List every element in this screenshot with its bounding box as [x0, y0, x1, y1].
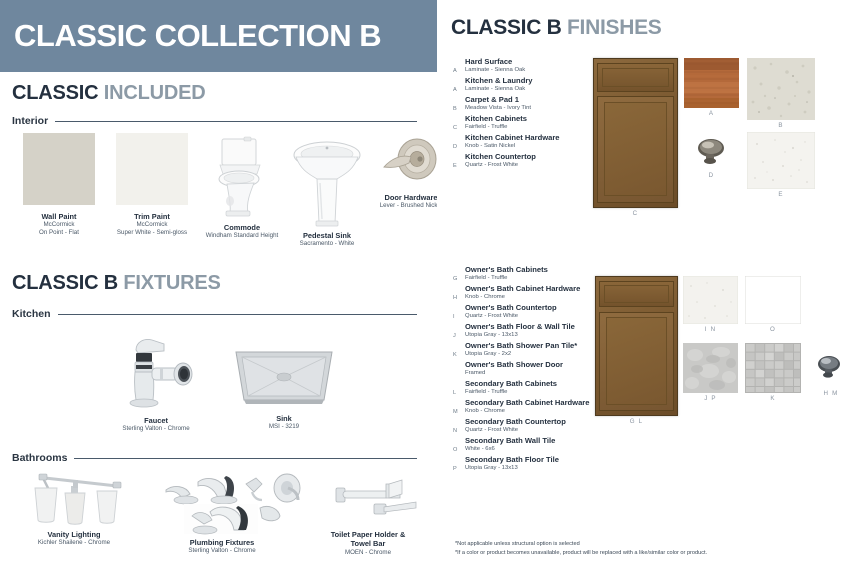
finish-name: Kitchen Cabinet Hardware	[465, 134, 560, 143]
item-desc: McCormickSuper White - Semi-gloss	[117, 221, 187, 237]
finish-name: Owner's Bath Floor & Wall Tile	[465, 323, 590, 332]
pedestal-sink-icon	[289, 139, 365, 227]
finish-row: M Secondary Bath Cabinet Hardware Knob -…	[453, 399, 590, 415]
finish-desc: Quartz - Frost White	[465, 313, 590, 320]
footnote-2: *If a color or product becomes unavailab…	[455, 549, 845, 558]
finish-name: Hard Surface	[465, 58, 560, 67]
finish-name: Owner's Bath Cabinets	[465, 266, 590, 275]
knob-satin-nickel-icon	[684, 132, 739, 170]
item-name: Faucet	[144, 416, 168, 425]
swatch-bath-knob: H M	[809, 348, 853, 397]
item-name: Vanity Lighting	[48, 530, 101, 539]
finish-desc: Knob - Chrome	[465, 408, 590, 415]
finish-row: O Secondary Bath Wall Tile White - 6x6	[453, 437, 590, 453]
item-name: Sink	[276, 414, 292, 423]
finish-row: I Owner's Bath Countertop Quartz - Frost…	[453, 304, 590, 320]
kitchen-sink-icon	[232, 346, 336, 408]
finish-desc: Fairfield - Truffle	[465, 389, 590, 396]
finish-desc: Utopia Gray - 2x2	[465, 351, 590, 358]
finish-row: K Owner's Bath Shower Pan Tile* Utopia G…	[453, 342, 590, 358]
finishes-heading: CLASSIC B FINISHES	[451, 16, 661, 40]
finish-name: Carpet & Pad 1	[465, 96, 560, 105]
finish-letter: G	[453, 276, 457, 282]
finish-letter: D	[453, 144, 457, 150]
finishes-top-list: A Hard Surface Laminate - Sienna Oak A K…	[453, 58, 560, 172]
finish-letter: H	[453, 295, 457, 301]
paint-swatch-icon	[116, 133, 188, 205]
divider-rule	[58, 314, 417, 315]
swatch-label: B	[747, 122, 815, 129]
finish-name: Kitchen & Laundry	[465, 77, 560, 86]
item-name: Door Hardware	[385, 193, 438, 202]
finish-row: D Kitchen Cabinet Hardware Knob - Satin …	[453, 134, 560, 150]
item-name: Commode	[224, 223, 260, 232]
heading-dark-part: CLASSIC	[12, 82, 98, 104]
finish-letter: N	[453, 428, 457, 434]
finish-letter: B	[453, 106, 457, 112]
finish-desc: Knob - Satin Nickel	[465, 143, 560, 150]
item-plumbing-fixtures: Plumbing Fixtures Sterling Valton - Chro…	[138, 472, 306, 555]
swatch-label: A	[684, 110, 739, 117]
item-commode: Commode Windham Standard Height	[200, 133, 284, 240]
finish-letter: O	[453, 447, 457, 453]
swatch-label: I N	[683, 326, 738, 333]
swatch-label: G L	[595, 418, 678, 425]
heading-dark-part: CLASSIC B	[12, 272, 118, 294]
subhead-label: Bathrooms	[12, 452, 74, 464]
finish-name: Owner's Bath Shower Door	[465, 361, 590, 370]
finish-desc: Knob - Chrome	[465, 294, 590, 301]
finish-name: Secondary Bath Wall Tile	[465, 437, 590, 446]
item-desc: Lever - Brushed Nickel	[380, 202, 443, 210]
finish-row: E Kitchen Countertop Quartz - Frost Whit…	[453, 153, 560, 169]
left-column: CLASSIC COLLECTION B CLASSIC INCLUDED In…	[0, 0, 437, 569]
item-desc: MSI - 3219	[269, 423, 299, 431]
item-name: Plumbing Fixtures	[190, 538, 254, 547]
finish-row: B Carpet & Pad 1 Meadow Vista - Ivory Ti…	[453, 96, 560, 112]
finish-letter: J	[453, 333, 456, 339]
finish-letter: A	[453, 87, 457, 93]
finish-row: P Secondary Bath Floor Tile Utopia Gray …	[453, 456, 590, 472]
finish-letter: A	[453, 68, 457, 74]
swatch-hard-surface: A	[684, 58, 739, 117]
mosaic-tile-icon	[745, 343, 801, 393]
swatch-shower-pan-tile: K	[745, 343, 801, 402]
swatch-bath-floor-tile: J P	[683, 343, 738, 402]
item-wall-paint: Wall Paint McCormickOn Point - Flat	[14, 133, 104, 237]
knob-chrome-icon	[809, 348, 853, 388]
door-drawer-panel	[597, 63, 673, 91]
swatch-label: D	[684, 172, 739, 179]
finish-row: Owner's Bath Shower Door Framed	[453, 361, 590, 377]
finish-name: Owner's Bath Shower Pan Tile*	[465, 342, 590, 351]
finish-letter: L	[453, 390, 456, 396]
finish-name: Secondary Bath Cabinets	[465, 380, 590, 389]
gray-tile-icon	[683, 343, 738, 393]
plumbing-fixtures-icon	[142, 472, 302, 536]
page-title: CLASSIC COLLECTION B	[0, 18, 381, 54]
wood-laminate-icon	[684, 58, 739, 108]
white-tile-icon	[745, 276, 801, 324]
collection-sheet: CLASSIC COLLECTION B CLASSIC INCLUDED In…	[0, 0, 853, 569]
finish-desc: Quartz - Frost White	[465, 427, 590, 434]
finish-name: Owner's Bath Cabinet Hardware	[465, 285, 590, 294]
finish-letter: I	[453, 314, 455, 320]
finish-letter: E	[453, 163, 457, 169]
item-desc: Sterling Valton - Chrome	[188, 547, 255, 555]
swatch-bath-wall-tile: O	[745, 276, 801, 333]
finish-row: L Secondary Bath Cabinets Fairfield - Tr…	[453, 380, 590, 396]
item-desc: McCormickOn Point - Flat	[39, 221, 79, 237]
kitchen-items: Faucet Sterling Valton - Chrome Sink MSI…	[92, 334, 348, 433]
quartz-icon	[747, 132, 815, 189]
item-name: Toilet Paper Holder &Towel Bar	[331, 530, 406, 549]
towel-bar-icon	[316, 476, 420, 526]
toilet-icon	[206, 135, 278, 219]
subhead-label: Interior	[12, 115, 55, 127]
swatch-bath-countertop: I N	[683, 276, 738, 333]
item-name: Pedestal Sink	[303, 231, 351, 240]
heading-dark-part: CLASSIC B	[451, 16, 561, 39]
swatch-kitchen-knob: D	[684, 132, 739, 179]
item-towel-bar: Toilet Paper Holder &Towel Bar MOEN - Ch…	[306, 472, 430, 556]
door-drawer-panel	[599, 281, 674, 307]
kitchen-faucet-icon	[114, 334, 198, 410]
finish-name: Owner's Bath Countertop	[465, 304, 590, 313]
finish-desc: Fairfield - Truffle	[465, 275, 590, 282]
finish-desc: Fairfield - Truffle	[465, 124, 560, 131]
swatch-label: J P	[683, 395, 738, 402]
footnote-1: *Not applicable unless structural option…	[455, 540, 845, 549]
finish-name: Secondary Bath Countertop	[465, 418, 590, 427]
header-bar: CLASSIC COLLECTION B	[0, 0, 437, 72]
finish-name: Kitchen Cabinets	[465, 115, 560, 124]
swatch-bath-cabinet-door: G L	[595, 276, 678, 425]
footnotes: *Not applicable unless structural option…	[455, 540, 845, 557]
paint-swatch-icon	[23, 133, 95, 205]
item-trim-paint: Trim Paint McCormickSuper White - Semi-g…	[104, 133, 200, 237]
door-main-panel	[597, 96, 673, 203]
cabinet-door-icon	[593, 58, 678, 208]
heading-light-part: FINISHES	[567, 16, 661, 39]
item-pedestal-sink: Pedestal Sink Sacramento - White	[284, 133, 370, 248]
subhead-bathrooms: Bathrooms	[12, 452, 417, 464]
finish-row: G Owner's Bath Cabinets Fairfield - Truf…	[453, 266, 590, 282]
swatch-label: O	[745, 326, 801, 333]
item-kitchen-faucet: Faucet Sterling Valton - Chrome	[92, 334, 220, 433]
finish-letter: M	[453, 409, 458, 415]
swatch-label: H M	[809, 390, 853, 397]
swatch-kitchen-cabinet-door: C	[593, 58, 678, 217]
item-desc: Windham Standard Height	[206, 232, 279, 240]
finish-desc: Utopia Gray - 13x13	[465, 332, 590, 339]
item-desc: Sacramento - White	[300, 240, 355, 248]
finish-letter: K	[453, 352, 457, 358]
finish-desc: Quartz - Frost White	[465, 162, 560, 169]
finish-row: H Owner's Bath Cabinet Hardware Knob - C…	[453, 285, 590, 301]
item-name: Wall Paint	[41, 212, 76, 221]
interior-items: Wall Paint McCormickOn Point - Flat Trim…	[14, 133, 452, 248]
subhead-interior: Interior	[12, 115, 417, 127]
heading-light-part: INCLUDED	[104, 82, 206, 104]
swatch-label: E	[747, 191, 815, 198]
swatch-label: C	[593, 210, 678, 217]
finish-desc: Laminate - Sienna Oak	[465, 86, 560, 93]
subhead-kitchen: Kitchen	[12, 308, 417, 320]
finish-desc: Meadow Vista - Ivory Tint	[465, 105, 560, 112]
finish-name: Secondary Bath Cabinet Hardware	[465, 399, 590, 408]
finish-row: N Secondary Bath Countertop Quartz - Fro…	[453, 418, 590, 434]
carpet-icon	[747, 58, 815, 120]
finish-name: Secondary Bath Floor Tile	[465, 456, 590, 465]
divider-rule	[55, 121, 417, 122]
door-main-panel	[599, 312, 674, 411]
item-name: Trim Paint	[134, 212, 170, 221]
finish-desc: Framed	[465, 370, 590, 377]
vanity-light-icon	[21, 472, 127, 526]
finish-name: Kitchen Countertop	[465, 153, 560, 162]
finish-letter: P	[453, 466, 457, 472]
cabinet-door-icon	[595, 276, 678, 416]
heading-light-part: FIXTURES	[123, 272, 220, 294]
finish-row: J Owner's Bath Floor & Wall Tile Utopia …	[453, 323, 590, 339]
swatch-label: K	[745, 395, 801, 402]
finish-desc: Laminate - Sienna Oak	[465, 67, 560, 74]
finish-row: C Kitchen Cabinets Fairfield - Truffle	[453, 115, 560, 131]
right-column: CLASSIC B FINISHES A Hard Surface Lamina…	[437, 0, 853, 569]
section-heading-included: CLASSIC INCLUDED	[12, 82, 205, 105]
item-kitchen-sink: Sink MSI - 3219	[220, 334, 348, 431]
divider-rule	[74, 458, 417, 459]
swatch-kitchen-countertop: E	[747, 132, 815, 198]
item-desc: Kichler Shailene - Chrome	[38, 539, 110, 547]
bathroom-items: Vanity Lighting Kichler Shailene - Chrom…	[10, 472, 430, 556]
section-heading-fixtures: CLASSIC B FIXTURES	[12, 272, 221, 295]
finishes-bottom-list: G Owner's Bath Cabinets Fairfield - Truf…	[453, 266, 590, 475]
finish-desc: White - 6x6	[465, 446, 590, 453]
finish-row: A Hard Surface Laminate - Sienna Oak	[453, 58, 560, 74]
item-vanity-lighting: Vanity Lighting Kichler Shailene - Chrom…	[10, 472, 138, 547]
item-desc: MOEN - Chrome	[345, 549, 391, 557]
quartz-icon	[683, 276, 738, 324]
subhead-label: Kitchen	[12, 308, 58, 320]
swatch-carpet: B	[747, 58, 815, 129]
finish-row: A Kitchen & Laundry Laminate - Sienna Oa…	[453, 77, 560, 93]
finish-letter: C	[453, 125, 457, 131]
finish-desc: Utopia Gray - 13x13	[465, 465, 590, 472]
item-desc: Sterling Valton - Chrome	[122, 425, 189, 433]
